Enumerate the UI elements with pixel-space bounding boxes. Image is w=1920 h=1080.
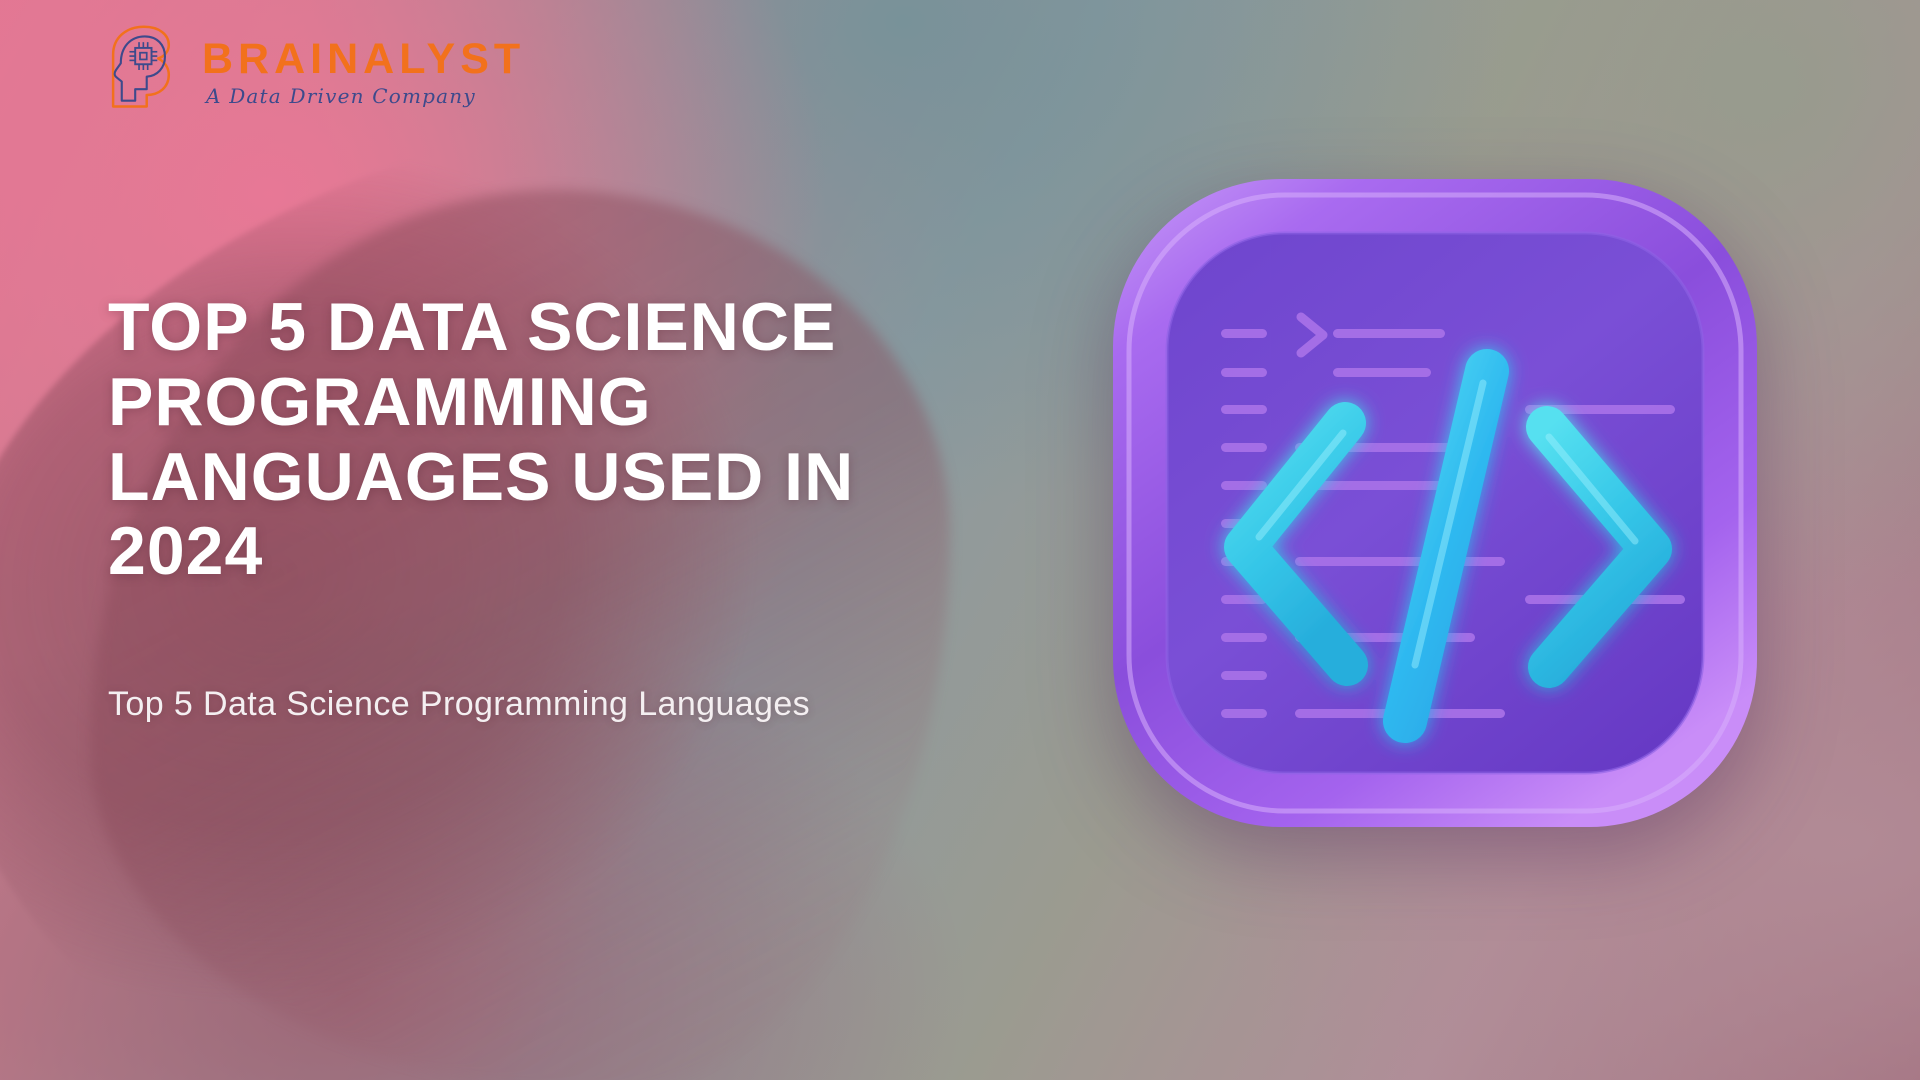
brain-head-chip-icon: [92, 22, 188, 118]
code-brackets-3d-icon: [1095, 165, 1775, 865]
page-title: TOP 5 DATA SCIENCE PROGRAMMING LANGUAGES…: [108, 290, 938, 589]
brand-name: BRAINALYST: [202, 38, 525, 81]
brand-wordmark: BRAINALYST A Data Driven Company: [202, 34, 525, 106]
brand-logo[interactable]: BRAINALYST A Data Driven Company: [92, 22, 525, 118]
brand-tagline: A Data Driven Company: [206, 86, 525, 106]
poster-canvas: BRAINALYST A Data Driven Company TOP 5 D…: [0, 0, 1920, 1080]
hero-heading-block: TOP 5 DATA SCIENCE PROGRAMMING LANGUAGES…: [108, 290, 938, 589]
page-subtitle: Top 5 Data Science Programming Languages: [108, 685, 810, 724]
